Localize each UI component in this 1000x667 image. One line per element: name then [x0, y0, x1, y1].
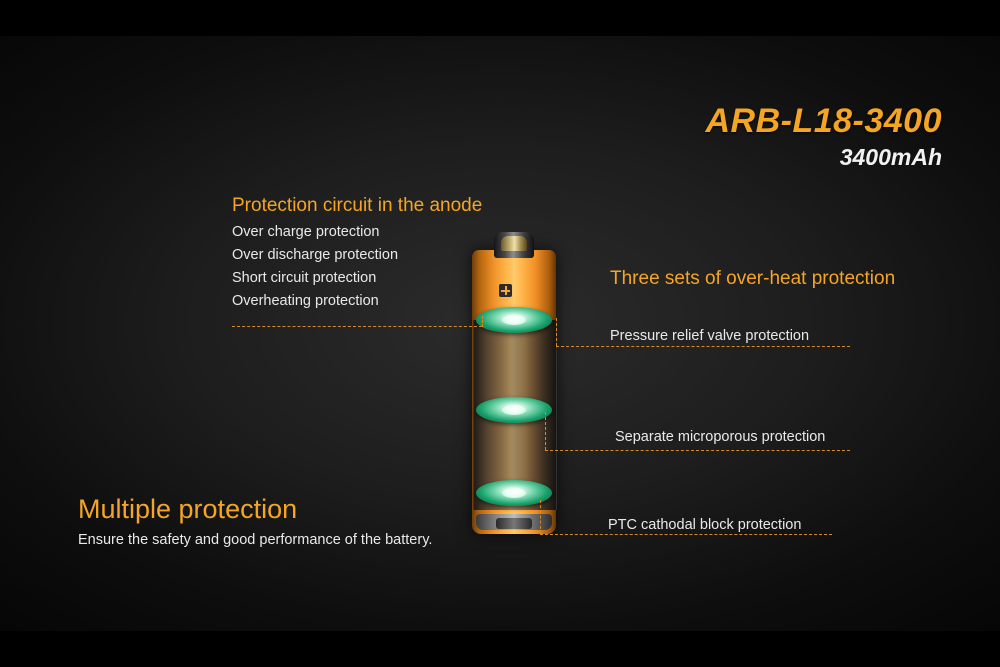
- leader-line-anode-vertical: [482, 316, 483, 327]
- list-item: Short circuit protection: [232, 267, 398, 290]
- letterbox-bar-top: [0, 0, 1000, 36]
- separate-microporous-disc: [476, 397, 552, 423]
- multiple-protection-subtitle: Ensure the safety and good performance o…: [78, 532, 432, 548]
- product-model-title: ARB-L18-3400: [705, 104, 942, 140]
- anode-protection-list: Over charge protection Over discharge pr…: [232, 221, 398, 313]
- infographic-canvas: ARB-L18-3400 3400mAh Protection circuit …: [0, 0, 1000, 667]
- pressure-relief-valve-disc: [476, 307, 552, 333]
- battery-illustration: [472, 232, 556, 534]
- leader-line-ptc-horizontal: [540, 534, 832, 535]
- anode-section-heading: Protection circuit in the anode: [232, 195, 482, 217]
- label-pressure-relief-valve: Pressure relief valve protection: [610, 328, 809, 344]
- list-item: Overheating protection: [232, 290, 398, 313]
- leader-line-ptc-vertical: [540, 500, 541, 534]
- leader-line-pressure-vertical: [556, 318, 557, 346]
- plus-sign-icon: [499, 284, 512, 297]
- label-separate-microporous: Separate microporous protection: [615, 429, 825, 445]
- leader-line-separate-vertical: [545, 412, 546, 450]
- multiple-protection-heading: Multiple protection: [78, 494, 297, 525]
- overheat-section-heading: Three sets of over-heat protection: [610, 268, 895, 290]
- product-title-block: ARB-L18-3400 3400mAh: [705, 104, 942, 171]
- label-ptc-cathodal-block: PTC cathodal block protection: [608, 517, 801, 533]
- battery-cap-contact: [501, 236, 527, 251]
- leader-line-anode-horizontal: [232, 326, 482, 327]
- leader-line-separate-horizontal: [545, 450, 850, 451]
- list-item: Over charge protection: [232, 221, 398, 244]
- letterbox-bar-bottom: [0, 631, 1000, 667]
- list-item: Over discharge protection: [232, 244, 398, 267]
- leader-line-pressure-horizontal: [556, 346, 850, 347]
- product-capacity-label: 3400mAh: [705, 144, 942, 171]
